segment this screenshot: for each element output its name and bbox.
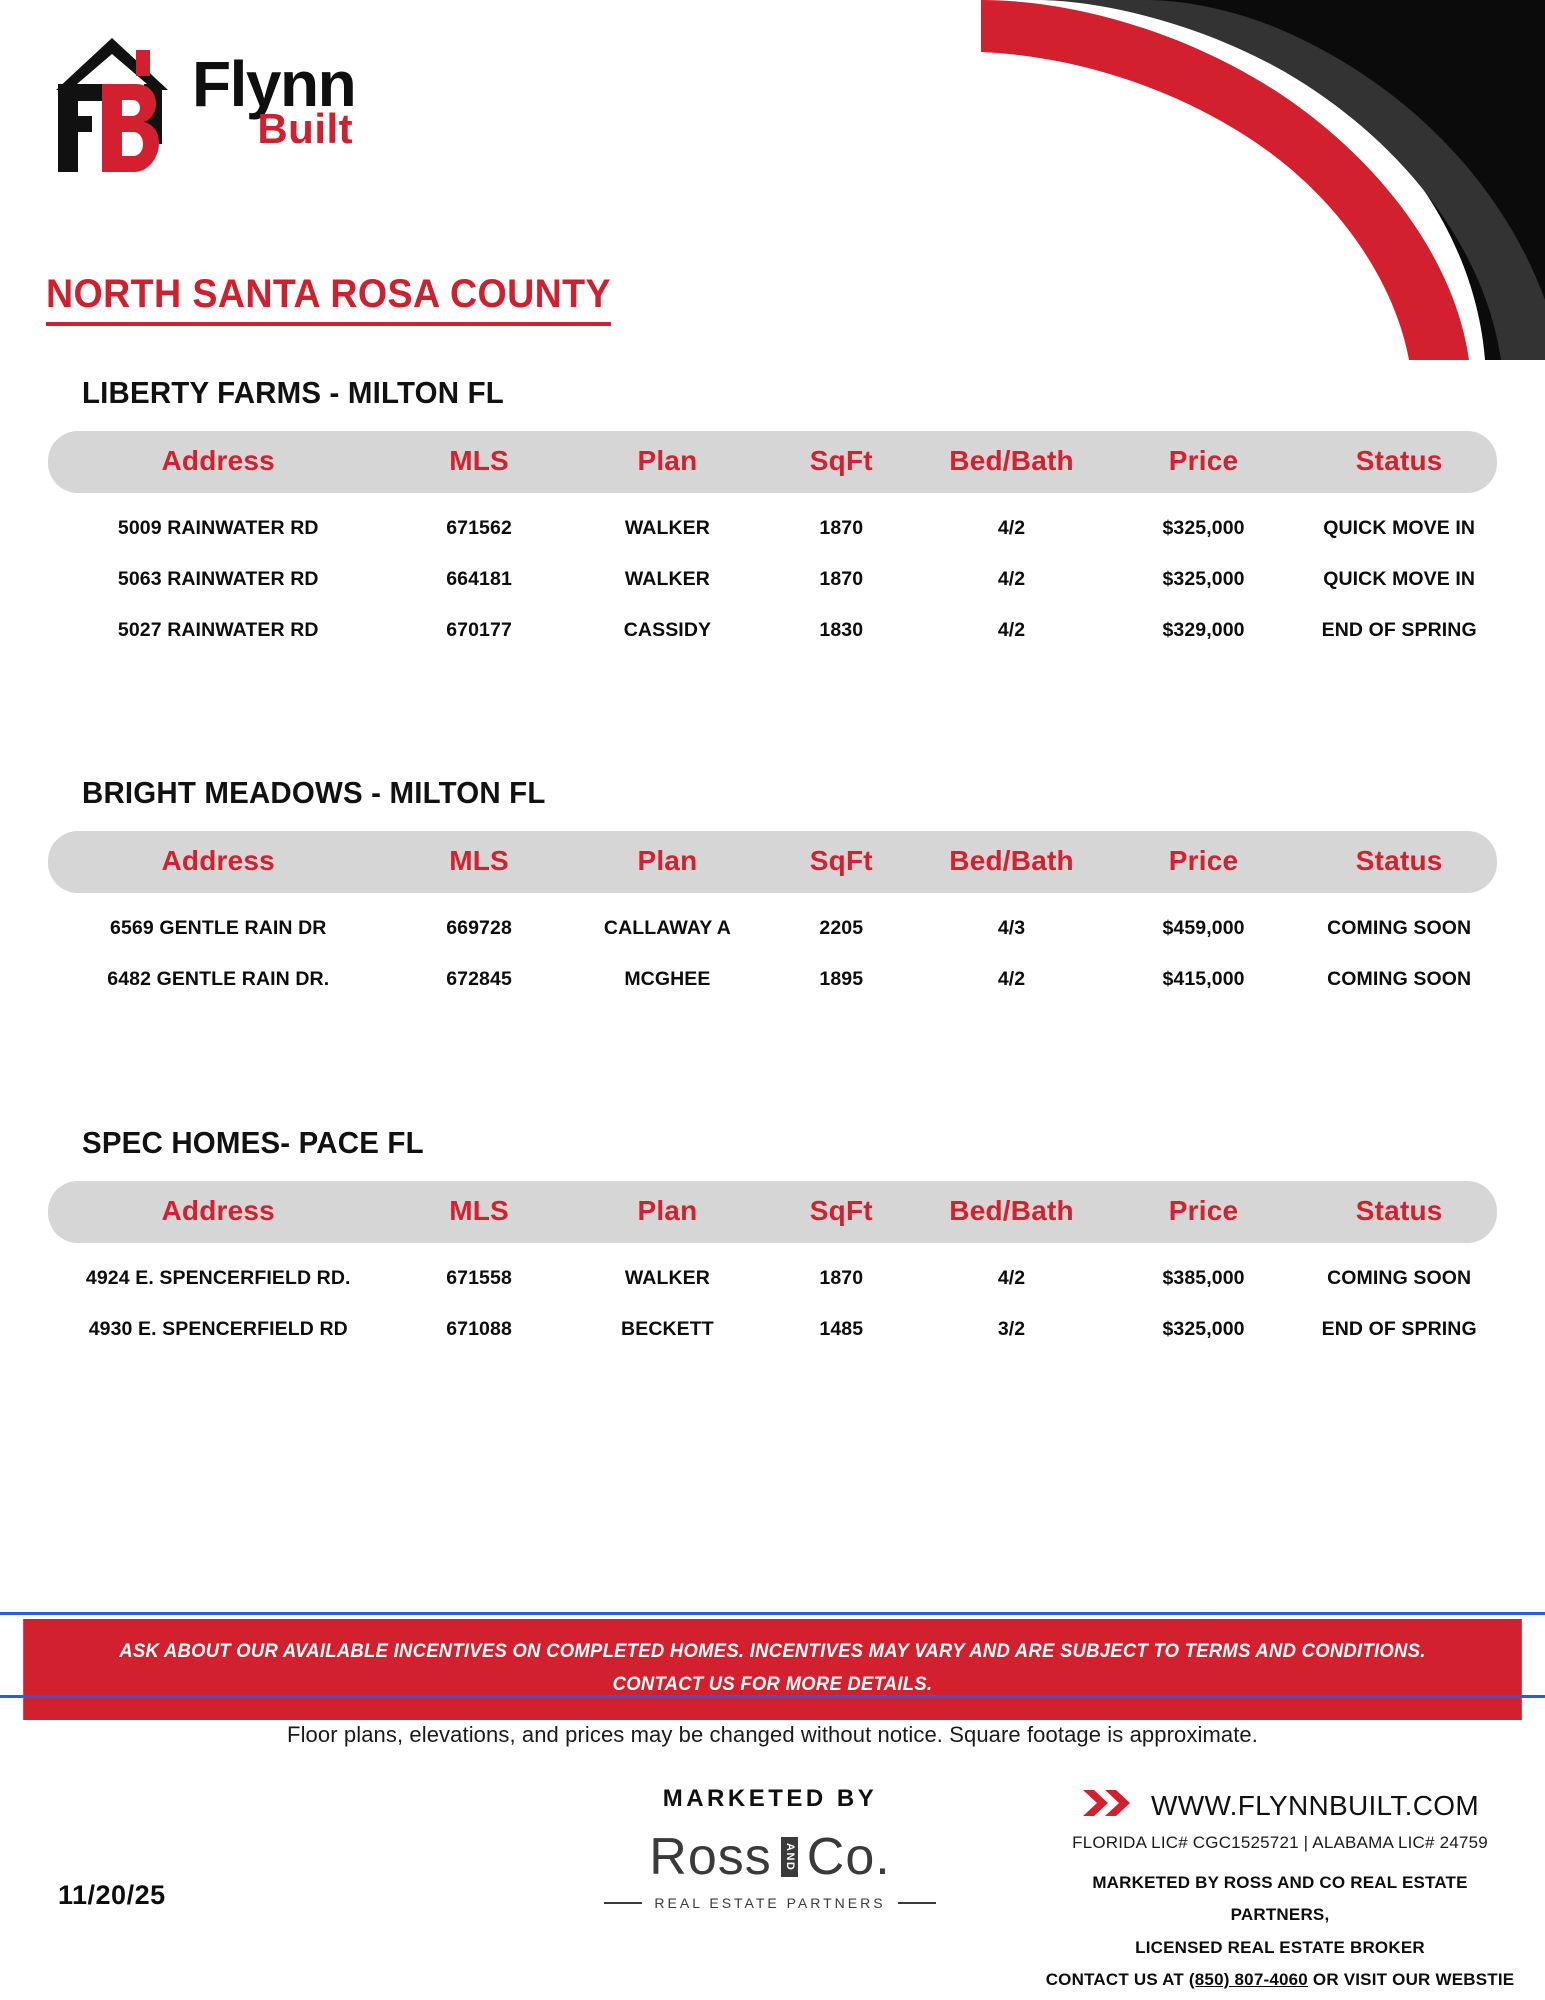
column-header-plan: Plan (570, 831, 766, 893)
cell-sqft: 1870 (765, 1243, 917, 1304)
column-header-bed-bath: Bed/Bath (917, 1181, 1105, 1243)
cell-address: 5027 RAINWATER RD (48, 605, 389, 656)
contact-phone[interactable]: (850) 807-4060 (1189, 1970, 1308, 1989)
column-header-price: Price (1106, 1181, 1302, 1243)
column-header-sqft: SqFt (765, 831, 917, 893)
cell-sqft: 1830 (765, 605, 917, 656)
table-row: 6569 GENTLE RAIN DR669728CALLAWAY A22054… (48, 893, 1497, 954)
cell-price: $329,000 (1106, 605, 1302, 656)
cell-sqft: 1870 (765, 493, 917, 554)
ross-and-badge: AND (781, 1837, 798, 1877)
cell-price: $415,000 (1106, 954, 1302, 1005)
column-header-mls: MLS (389, 431, 570, 493)
incentive-banner: ASK ABOUT OUR AVAILABLE INCENTIVES ON CO… (23, 1619, 1522, 1720)
logo-wordmark: Flynn Built (192, 58, 355, 147)
section-title: BRIGHT MEADOWS - MILTON FL (82, 775, 1472, 811)
section-title: LIBERTY FARMS - MILTON FL (82, 375, 1472, 411)
column-header-sqft: SqFt (765, 431, 917, 493)
column-header-plan: Plan (570, 431, 766, 493)
cell-bed-bath: 4/2 (917, 554, 1105, 605)
cell-mls: 671088 (389, 1304, 570, 1355)
cell-plan: MCGHEE (570, 954, 766, 1005)
table-header-row: AddressMLSPlanSqFtBed/BathPriceStatus (48, 431, 1497, 493)
listing-table-block: AddressMLSPlanSqFtBed/BathPriceStatus656… (0, 831, 1545, 1005)
page-title: NORTH SANTA ROSA COUNTY (46, 272, 611, 326)
cell-price: $325,000 (1106, 493, 1302, 554)
cell-mls: 669728 (389, 893, 570, 954)
tagline-dash-left (604, 1902, 642, 1904)
listing-table-block: AddressMLSPlanSqFtBed/BathPriceStatus492… (0, 1181, 1545, 1355)
column-header-address: Address (48, 831, 389, 893)
co-wordmark: Co. (807, 1827, 891, 1887)
banner-rule-bottom (0, 1695, 1545, 1698)
column-header-mls: MLS (389, 1181, 570, 1243)
cell-address: 6482 GENTLE RAIN DR. (48, 954, 389, 1005)
banner-rule-top (0, 1612, 1545, 1615)
cell-mls: 670177 (389, 605, 570, 656)
cell-status: COMING SOON (1301, 954, 1497, 1005)
cell-mls: 664181 (389, 554, 570, 605)
cell-bed-bath: 4/3 (917, 893, 1105, 954)
cell-status: COMING SOON (1301, 1243, 1497, 1304)
table-row: 5063 RAINWATER RD664181WALKER18704/2$325… (48, 554, 1497, 605)
cell-sqft: 1895 (765, 954, 917, 1005)
cell-status: END OF SPRING (1301, 1304, 1497, 1355)
cell-sqft: 1870 (765, 554, 917, 605)
cell-status: COMING SOON (1301, 893, 1497, 954)
column-header-status: Status (1301, 1181, 1497, 1243)
cell-price: $385,000 (1106, 1243, 1302, 1304)
cell-address: 4924 E. SPENCERFIELD RD. (48, 1243, 389, 1304)
cell-plan: WALKER (570, 554, 766, 605)
cell-plan: BECKETT (570, 1304, 766, 1355)
logo-flynn-text: Flynn (192, 58, 355, 110)
ross-tagline-row: REAL ESTATE PARTNERS (560, 1895, 980, 1911)
section-title: SPEC HOMES- PACE FL (82, 1125, 1472, 1161)
cell-price: $325,000 (1106, 554, 1302, 605)
cell-price: $459,000 (1106, 893, 1302, 954)
column-header-mls: MLS (389, 831, 570, 893)
listing-section: BRIGHT MEADOWS - MILTON FLAddressMLSPlan… (0, 775, 1545, 1005)
cell-bed-bath: 4/2 (917, 1243, 1105, 1304)
cell-price: $325,000 (1106, 1304, 1302, 1355)
table-header-row: AddressMLSPlanSqFtBed/BathPriceStatus (48, 1181, 1497, 1243)
table-header-row: AddressMLSPlanSqFtBed/BathPriceStatus (48, 831, 1497, 893)
table-row: 5009 RAINWATER RD671562WALKER18704/2$325… (48, 493, 1497, 554)
cell-bed-bath: 4/2 (917, 493, 1105, 554)
website-url[interactable]: WWW.FLYNNBUILT.COM (1151, 1790, 1479, 1822)
listing-section: LIBERTY FARMS - MILTON FLAddressMLSPlanS… (0, 375, 1545, 656)
broker-contact-line: CONTACT US AT (850) 807-4060 OR VISIT OU… (1045, 1964, 1515, 1996)
cell-address: 5063 RAINWATER RD (48, 554, 389, 605)
flyer-page: Flynn Built NORTH SANTA ROSA COUNTY LIBE… (0, 0, 1545, 2000)
table-row: 4924 E. SPENCERFIELD RD.671558WALKER1870… (48, 1243, 1497, 1304)
listing-table: AddressMLSPlanSqFtBed/BathPriceStatus656… (48, 831, 1497, 1005)
column-header-status: Status (1301, 831, 1497, 893)
corner-swoosh-graphic (785, 0, 1545, 360)
listing-section: SPEC HOMES- PACE FLAddressMLSPlanSqFtBed… (0, 1125, 1545, 1355)
contact-block: WWW.FLYNNBUILT.COM FLORIDA LIC# CGC15257… (1045, 1788, 1515, 2000)
cell-mls: 671562 (389, 493, 570, 554)
column-header-address: Address (48, 431, 389, 493)
cell-plan: WALKER (570, 493, 766, 554)
cell-status: QUICK MOVE IN (1301, 493, 1497, 554)
contact-suffix: OR VISIT OUR WEBSTIE (1308, 1970, 1514, 1989)
listing-table-block: AddressMLSPlanSqFtBed/BathPriceStatus500… (0, 431, 1545, 656)
cell-bed-bath: 3/2 (917, 1304, 1105, 1355)
cell-sqft: 2205 (765, 893, 917, 954)
column-header-bed-bath: Bed/Bath (917, 431, 1105, 493)
listing-table: AddressMLSPlanSqFtBed/BathPriceStatus500… (48, 431, 1497, 656)
cell-mls: 672845 (389, 954, 570, 1005)
tagline-dash-right (898, 1902, 936, 1904)
table-row: 5027 RAINWATER RD670177CASSIDY18304/2$32… (48, 605, 1497, 656)
cell-bed-bath: 4/2 (917, 954, 1105, 1005)
column-header-price: Price (1106, 431, 1302, 493)
double-chevron-right-icon (1081, 1788, 1137, 1823)
license-numbers: FLORIDA LIC# CGC1525721 | ALABAMA LIC# 2… (1045, 1833, 1515, 1853)
broker-line-2: LICENSED REAL ESTATE BROKER (1045, 1932, 1515, 1964)
column-header-sqft: SqFt (765, 1181, 917, 1243)
date-stamp: 11/20/25 (58, 1880, 166, 1911)
column-header-plan: Plan (570, 1181, 766, 1243)
incentive-line-1: ASK ABOUT OUR AVAILABLE INCENTIVES ON CO… (62, 1635, 1483, 1668)
table-row: 4930 E. SPENCERFIELD RD671088BECKETT1485… (48, 1304, 1497, 1355)
broker-line-1: MARKETED BY ROSS AND CO REAL ESTATE PART… (1045, 1867, 1515, 1932)
broker-disclosure: MARKETED BY ROSS AND CO REAL ESTATE PART… (1045, 1867, 1515, 2000)
house-fb-logo-icon (44, 28, 184, 178)
listing-table: AddressMLSPlanSqFtBed/BathPriceStatus492… (48, 1181, 1497, 1355)
table-row: 6482 GENTLE RAIN DR.672845MCGHEE18954/2$… (48, 954, 1497, 1005)
cell-address: 5009 RAINWATER RD (48, 493, 389, 554)
column-header-price: Price (1106, 831, 1302, 893)
cell-plan: CASSIDY (570, 605, 766, 656)
broker-website-url[interactable]: HTTPS://ROSSANDCO.REALESTATE (1045, 1996, 1515, 2000)
column-header-bed-bath: Bed/Bath (917, 831, 1105, 893)
column-header-status: Status (1301, 431, 1497, 493)
cell-bed-bath: 4/2 (917, 605, 1105, 656)
contact-prefix: CONTACT US AT (1046, 1970, 1189, 1989)
cell-plan: WALKER (570, 1243, 766, 1304)
cell-address: 6569 GENTLE RAIN DR (48, 893, 389, 954)
cell-mls: 671558 (389, 1243, 570, 1304)
cell-status: END OF SPRING (1301, 605, 1497, 656)
ross-tagline: REAL ESTATE PARTNERS (654, 1895, 885, 1911)
marketed-by-label: MARKETED BY (560, 1785, 980, 1813)
website-row[interactable]: WWW.FLYNNBUILT.COM (1045, 1788, 1515, 1823)
cell-address: 4930 E. SPENCERFIELD RD (48, 1304, 389, 1355)
disclaimer-text: Floor plans, elevations, and prices may … (0, 1722, 1545, 1748)
ross-logo-row: Ross AND Co. (560, 1827, 980, 1887)
cell-status: QUICK MOVE IN (1301, 554, 1497, 605)
cell-sqft: 1485 (765, 1304, 917, 1355)
flynn-built-logo: Flynn Built (44, 28, 474, 178)
column-header-address: Address (48, 1181, 389, 1243)
cell-plan: CALLAWAY A (570, 893, 766, 954)
ross-and-co-logo: MARKETED BY Ross AND Co. REAL ESTATE PAR… (560, 1785, 980, 1911)
ross-wordmark: Ross (649, 1827, 771, 1887)
